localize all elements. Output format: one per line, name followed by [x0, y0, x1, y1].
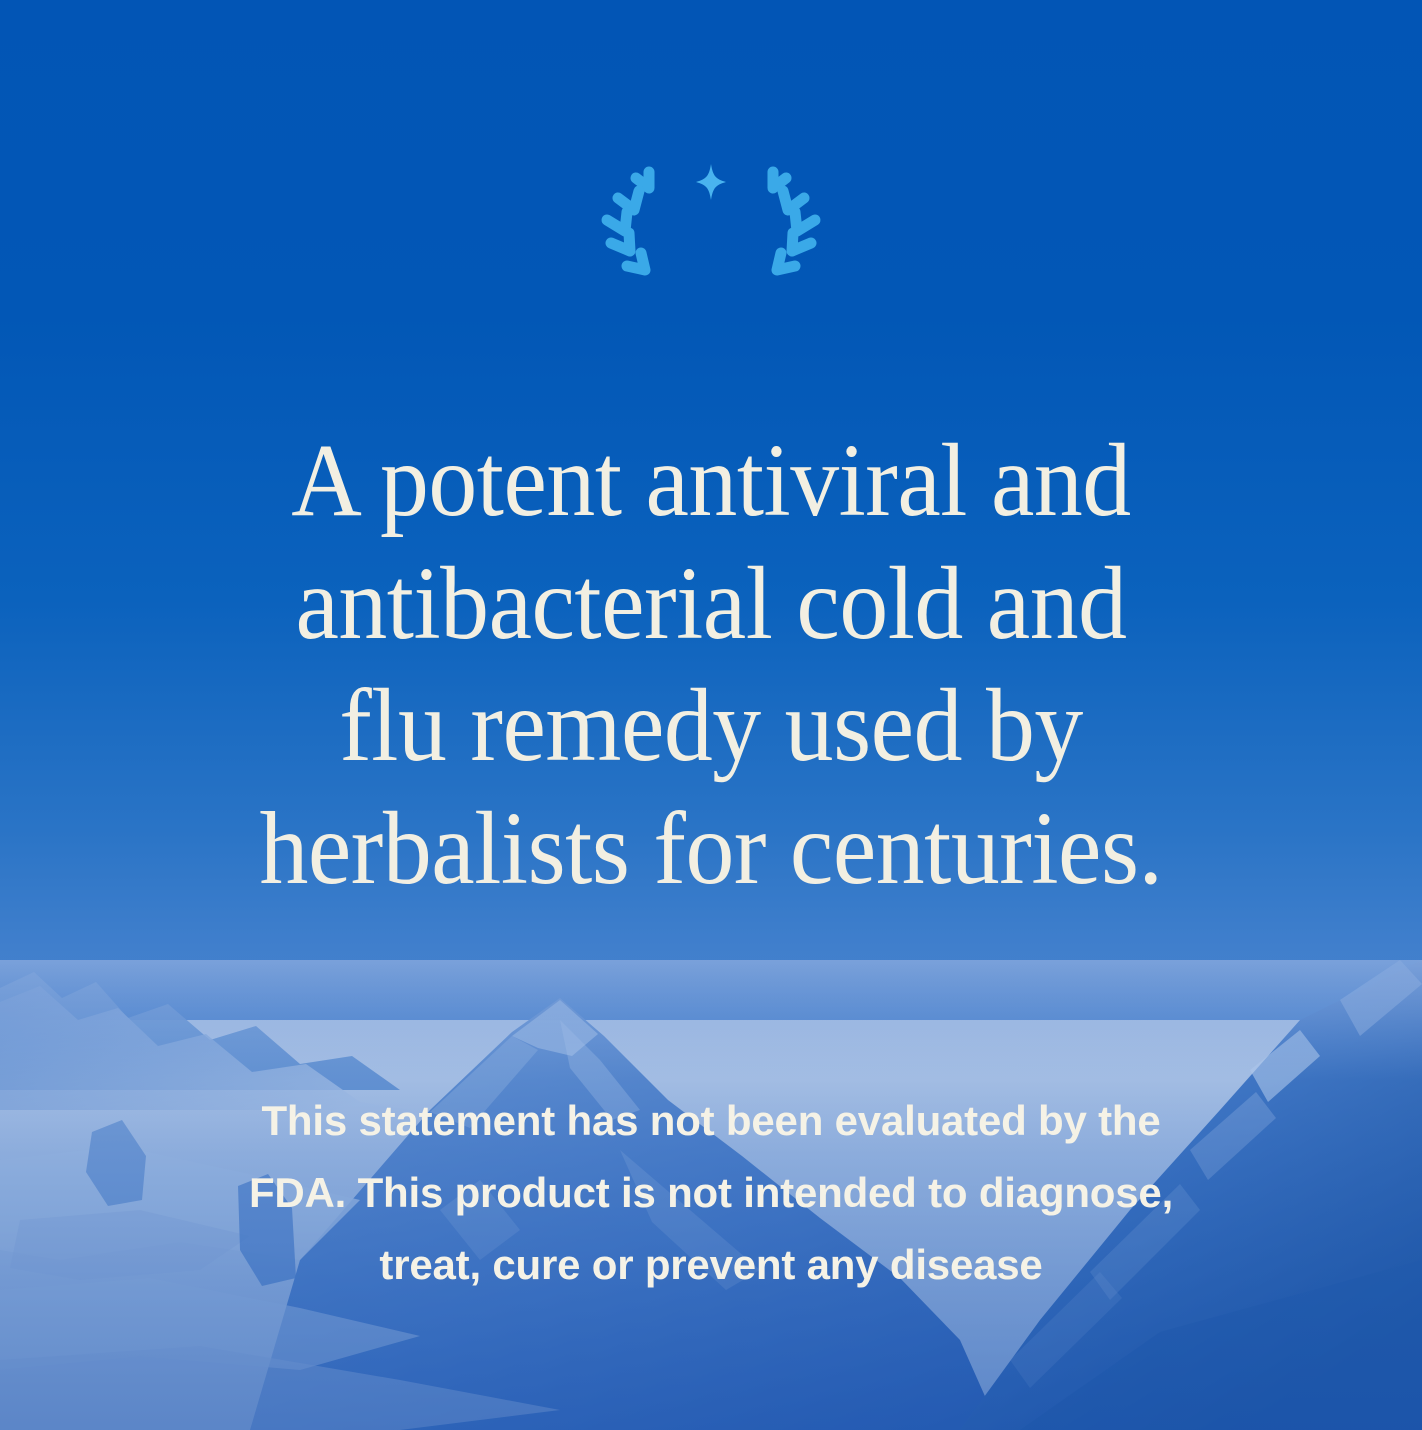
laurel-branch-left-icon [607, 172, 649, 270]
fda-disclaimer: This statement has not been evaluated by… [101, 1085, 1321, 1302]
promo-banner: A potent antiviral and antibacterial col… [0, 0, 1422, 1430]
headline-line-4: herbalists for centuries. [213, 788, 1209, 911]
disclaimer-line-2: FDA. This product is not intended to dia… [101, 1157, 1321, 1229]
brand-logo[interactable] [591, 158, 831, 290]
four-point-sparkle-icon [696, 164, 726, 200]
cc-monogram-icon [654, 202, 733, 268]
disclaimer-line-1: This statement has not been evaluated by… [101, 1085, 1321, 1157]
headline-line-2: antibacterial cold and [213, 543, 1209, 666]
disclaimer-line-3: treat, cure or prevent any disease [101, 1229, 1321, 1301]
headline-line-3: flu remedy used by [213, 665, 1209, 788]
headline-line-1: A potent antiviral and [213, 420, 1209, 543]
headline: A potent antiviral and antibacterial col… [213, 420, 1209, 911]
laurel-branch-right-icon [773, 172, 815, 270]
